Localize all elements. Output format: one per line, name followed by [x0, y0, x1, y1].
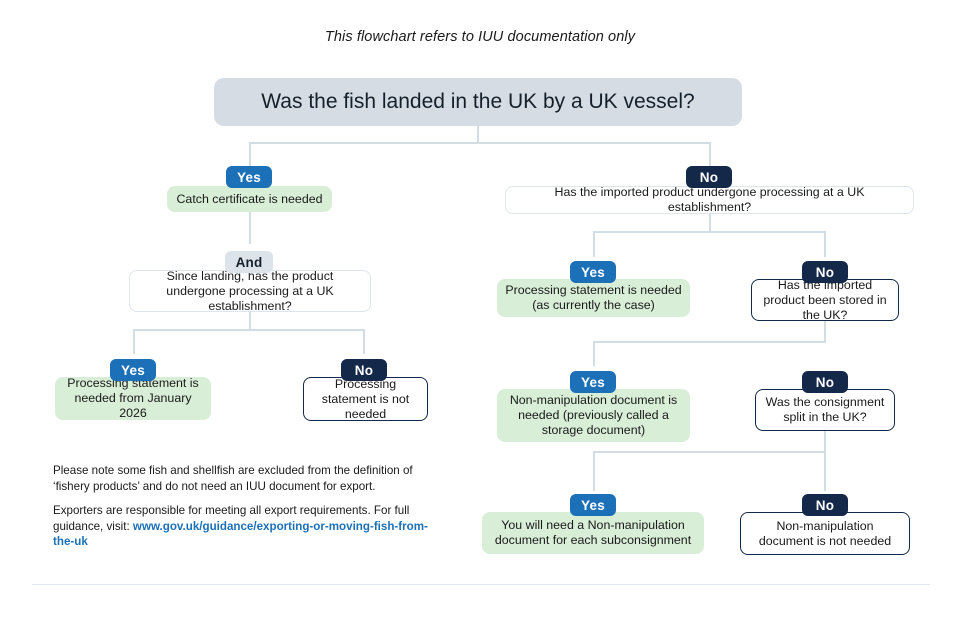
- badge-right-no-2: No: [802, 261, 848, 283]
- connector-left-2-stem: [249, 312, 251, 330]
- badge-right-yes-2: Yes: [570, 371, 616, 393]
- connector-right-3-drop-left: [593, 451, 595, 491]
- connector-right-3-drop-right: [824, 451, 826, 491]
- badge-left-and: And: [225, 251, 273, 273]
- footer-divider: [32, 584, 930, 585]
- connector-root-stem: [477, 126, 479, 143]
- left-yes-result-box: Catch certificate is needed: [167, 186, 332, 212]
- connector-root-drop-right: [709, 142, 711, 166]
- connector-right-2-stem: [824, 321, 826, 342]
- right-yes-result-box: Processing statement is needed (as curre…: [497, 279, 690, 317]
- connector-root-bar: [249, 142, 711, 144]
- badge-right-no-1: No: [686, 166, 732, 188]
- left-yes-result-2-box: Processing statement is needed from Janu…: [55, 377, 211, 420]
- badge-right-no-4: No: [802, 494, 848, 516]
- connector-right-1-bar: [593, 231, 826, 233]
- connector-left-2-drop-right: [363, 329, 365, 354]
- chart-subtitle: This flowchart refers to IUU documentati…: [0, 29, 960, 45]
- right-yes-result-2-box: Non-manipulation document is needed (pre…: [497, 389, 690, 442]
- right-yes-result-3-box: You will need a Non-manipulation documen…: [482, 512, 704, 554]
- badge-left-yes-1: Yes: [226, 166, 272, 188]
- footnote-exclusions: Please note some fish and shellfish are …: [53, 463, 443, 494]
- left-and-question-box: Since landing, has the product undergone…: [129, 270, 371, 312]
- left-no-result-2-box: Processing statement is not needed: [303, 377, 428, 421]
- right-no-question-2-box: Has the imported product been stored in …: [751, 279, 899, 321]
- connector-right-3-stem: [824, 431, 826, 452]
- badge-right-yes-3: Yes: [570, 494, 616, 516]
- footnote-guidance: Exporters are responsible for meeting al…: [53, 503, 428, 550]
- connector-right-2-bar: [593, 341, 826, 343]
- flowchart-canvas: This flowchart refers to IUU documentati…: [0, 0, 960, 640]
- root-question-box: Was the fish landed in the UK by a UK ve…: [214, 78, 742, 126]
- badge-left-no-2: No: [341, 359, 387, 381]
- right-no-question-3-box: Was the consignment split in the UK?: [755, 389, 895, 431]
- connector-right-1-drop-right: [824, 231, 826, 257]
- connector-left-2-drop-left: [133, 329, 135, 354]
- connector-root-drop-left: [249, 142, 251, 166]
- connector-right-1-stem: [709, 214, 711, 232]
- right-no-result-3-box: Non-manipulation document is not needed: [740, 512, 910, 555]
- connector-right-2-drop-left: [593, 341, 595, 366]
- connector-right-1-drop-left: [593, 231, 595, 257]
- connector-left-2-bar: [133, 329, 365, 331]
- connector-right-3-bar: [593, 451, 826, 453]
- connector-left-1: [249, 212, 251, 244]
- badge-right-no-3: No: [802, 371, 848, 393]
- badge-left-yes-2: Yes: [110, 359, 156, 381]
- right-no-question-box: Has the imported product undergone proce…: [505, 186, 914, 214]
- badge-right-yes-1: Yes: [570, 261, 616, 283]
